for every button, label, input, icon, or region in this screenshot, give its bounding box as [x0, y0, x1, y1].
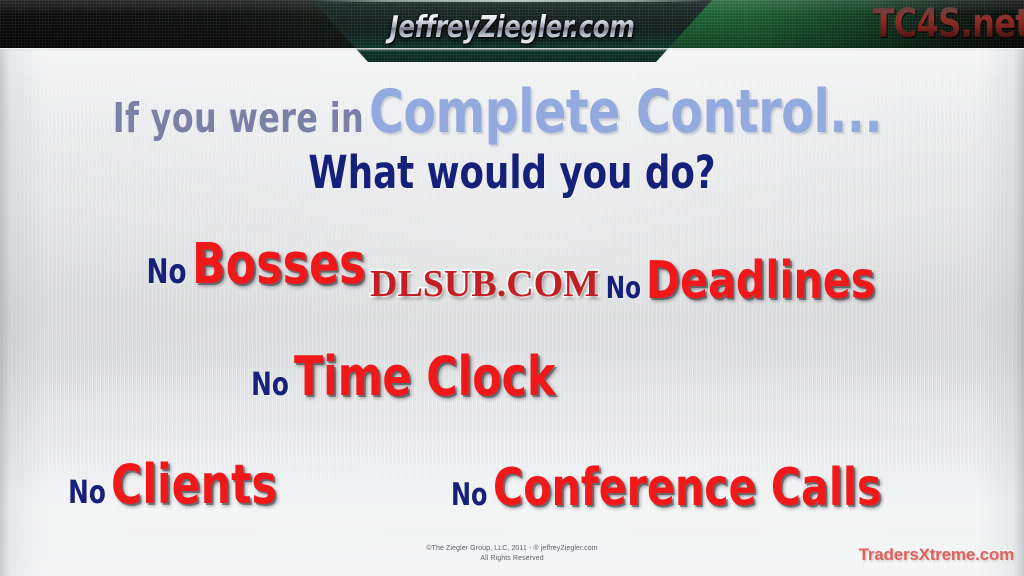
bullet-prefix: No	[68, 476, 106, 508]
bullet-word: Clients	[111, 458, 277, 512]
logo-plate-trapezoid: JeffreyZiegler.com	[312, 0, 712, 62]
bullet-no-deadlines: NoDeadlines	[600, 255, 907, 307]
bullet-prefix: No	[451, 480, 488, 511]
bullet-word: Time Clock	[294, 350, 555, 404]
headline-row: If you were inComplete Control...	[0, 82, 1024, 142]
slide-canvas: TC4S.net JeffreyZiegler.com If you were …	[0, 0, 1024, 576]
bullet-word: Conference Calls	[493, 462, 882, 514]
bullet-no-clients: NoClients	[62, 458, 300, 512]
tradersxtreme-brand[interactable]: TradersXtreme.com	[859, 545, 1014, 565]
bullet-no-conference-calls: NoConference Calls	[445, 462, 934, 514]
copyright-line-1: ©The Ziegler Group, LLC, 2011 - ® jeffre…	[426, 545, 597, 552]
header-bottom-edge	[0, 48, 1024, 51]
bullet-word: Deadlines	[646, 255, 875, 307]
partner-logo-tc4s[interactable]: TC4S.net	[873, 1, 1024, 47]
bullet-no-time-clock: NoTime Clock	[245, 350, 591, 404]
subheadline-text: What would you do?	[61, 146, 962, 199]
bullet-prefix: No	[606, 274, 641, 304]
headline-emphasis-text: Complete Control...	[369, 82, 882, 142]
bullet-prefix: No	[147, 255, 187, 289]
headline-lead-text: If you were in	[113, 98, 364, 139]
dlsub-watermark: DLSUB.COM	[370, 262, 599, 306]
bullet-no-bosses: NoBosses	[140, 237, 389, 293]
bullet-prefix: No	[251, 368, 289, 400]
logo-plate-highlight	[312, 0, 712, 2]
site-logo-jeffreyziegler[interactable]: JeffreyZiegler.com	[328, 10, 696, 45]
bullet-word: Bosses	[192, 237, 366, 293]
